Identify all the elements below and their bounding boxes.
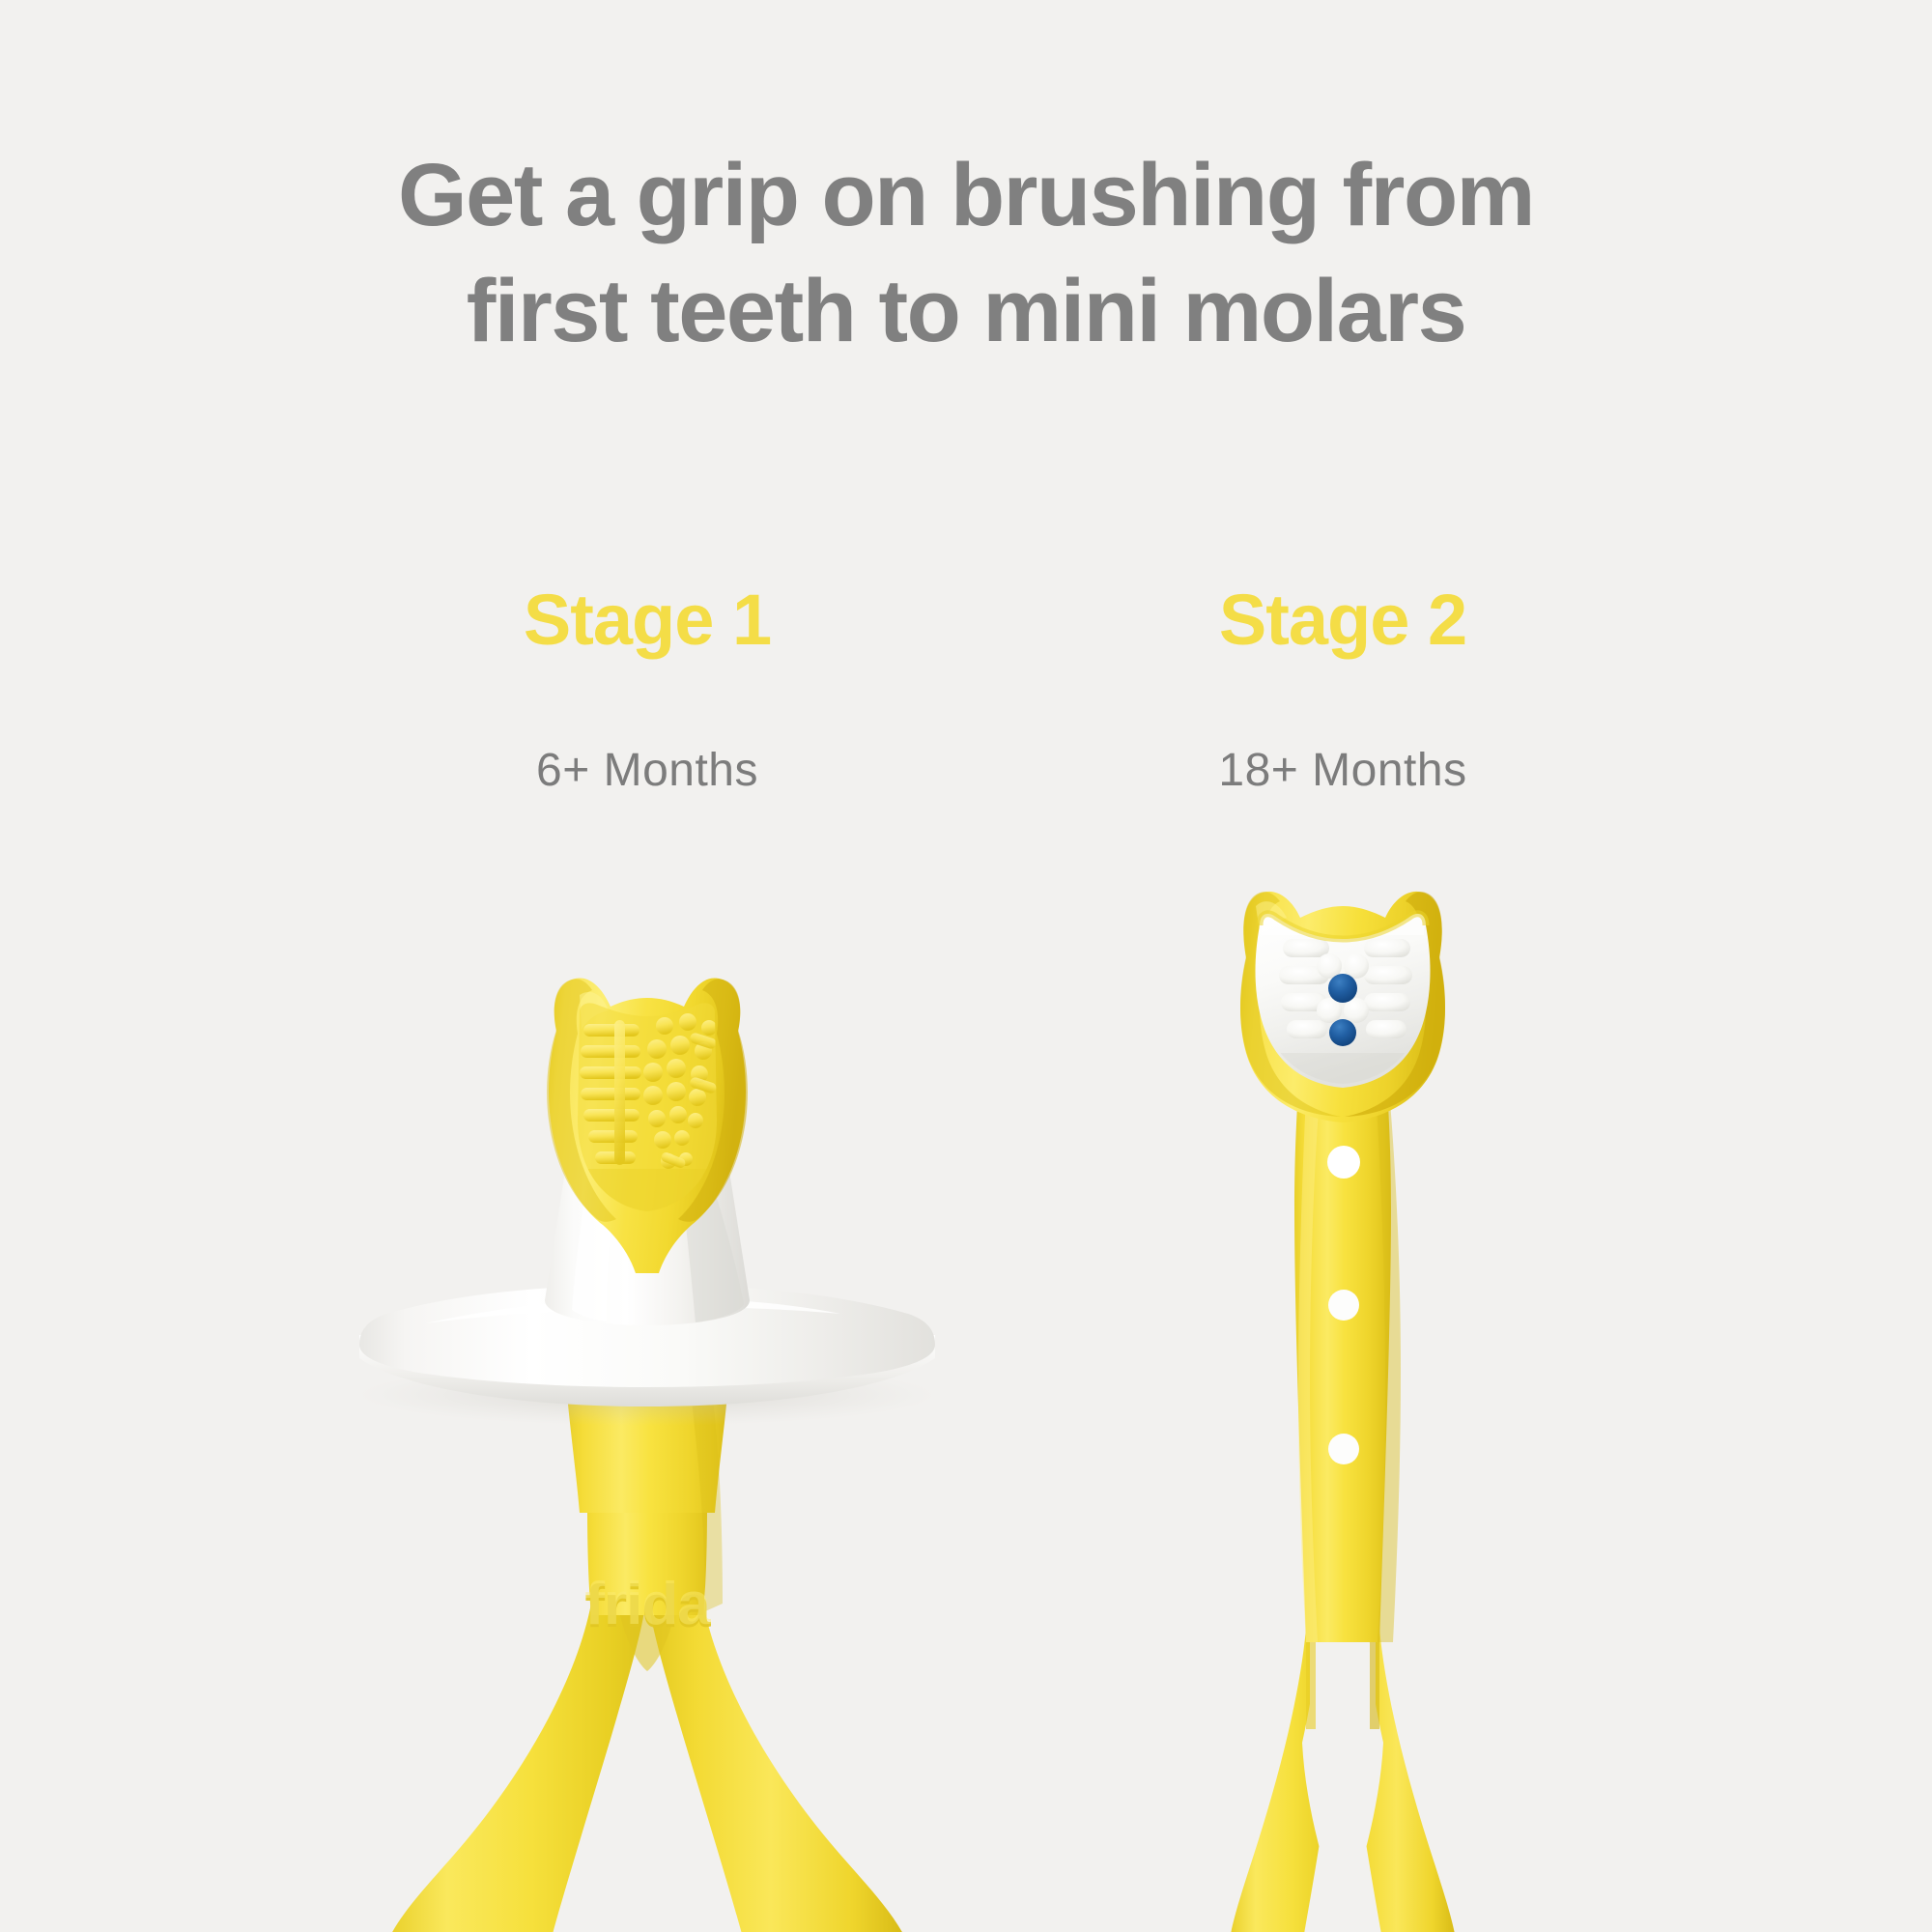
shield-collar	[545, 1136, 750, 1325]
stage-1-neck	[599, 1124, 696, 1179]
page-title-line-2: first teeth to mini molars	[0, 253, 1932, 369]
stage-2-leg-left	[1231, 1629, 1343, 1932]
stage-2-notch-rim-left	[1306, 1609, 1335, 1729]
stage-2-label: Stage 2	[1043, 580, 1642, 661]
grip-dot-2	[1328, 1290, 1359, 1321]
stage-1-shield-shadow	[357, 1364, 937, 1426]
stage-2-brush-head	[1240, 892, 1445, 1122]
shield-disc-highlight	[425, 1298, 840, 1323]
stage-2-handle-shade-right	[1376, 1090, 1401, 1642]
stage-1-head-stem	[593, 1078, 701, 1130]
stage-2-head-frame	[1240, 892, 1445, 1122]
shield-disc	[359, 1285, 935, 1387]
stage-2-handle-taper-right	[1383, 1082, 1410, 1642]
stage-1-leg-crotch-shade	[618, 1607, 676, 1671]
stage-1-label: Stage 1	[348, 580, 947, 661]
brand-emboss-text: frida	[584, 1574, 711, 1640]
shield-collar-shade	[676, 1148, 744, 1322]
stage-2-product-image	[1231, 892, 1455, 1932]
page-title: Get a grip on brushing from first teeth …	[0, 137, 1932, 369]
stage-2-age-range: 18+ Months	[1043, 744, 1642, 798]
page-title-line-1: Get a grip on brushing from	[0, 137, 1932, 253]
stage-2-bristle-field	[1256, 914, 1431, 1088]
stage-1-safety-shield	[359, 1136, 935, 1406]
stage-2-head-rim-left	[1240, 892, 1341, 1117]
stage-1-handle-legs	[391, 1604, 903, 1932]
stage-2-handle	[1294, 1088, 1391, 1642]
stage-1-leg-right	[649, 1604, 903, 1932]
bristle-bars-left	[1279, 939, 1329, 1038]
stage-1-leg-left	[391, 1604, 645, 1932]
shield-disc-lip	[359, 1335, 935, 1406]
nub-dots	[643, 1013, 717, 1169]
shield-collar-highlight	[572, 1151, 620, 1321]
brand-emboss-highlight: frida	[584, 1571, 711, 1637]
stage-2-head-highlight	[1256, 901, 1287, 945]
stage-1-teether-head	[547, 978, 748, 1273]
stage-2-leg-crotch-arc	[1310, 1609, 1376, 1719]
nub-ridges	[580, 1024, 641, 1164]
stage-1-head-rim-left	[547, 979, 616, 1221]
indicator-bristle-tuft-2	[1329, 1019, 1356, 1046]
nub-dashes	[660, 1032, 718, 1170]
grip-dot-3	[1328, 1434, 1359, 1464]
stage-1-head-rim-right	[678, 979, 748, 1221]
nub-connectors	[614, 1020, 625, 1165]
stage-1-handle-shadow	[690, 1383, 723, 1611]
bristle-bars-right	[1364, 939, 1412, 1038]
stage-1-handle-upper-flare	[566, 1381, 728, 1513]
stage-2-leg-crotch	[1302, 1623, 1383, 1929]
stage-2-handle-legs	[1231, 1609, 1455, 1932]
stage-2-bristle-inner-rim	[1260, 914, 1426, 939]
stage-1-age-range: 6+ Months	[348, 744, 947, 798]
stage-2-handle-taper-left	[1275, 1082, 1302, 1642]
grip-dot-1	[1327, 1146, 1360, 1179]
stage-1-nub-field	[570, 995, 724, 1236]
shield-collar-bore	[593, 1152, 701, 1178]
stage-2-head-rim-right	[1345, 892, 1445, 1117]
stage-1-product-image: frida frida	[357, 978, 937, 1932]
bristle-tufts-center	[1317, 953, 1369, 1043]
shield-collar-top	[566, 1142, 728, 1184]
stage-1-neck-in-collar	[601, 1121, 694, 1167]
stage-2-notch-rim-right	[1350, 1609, 1379, 1729]
stage-2-head-neck	[1270, 1005, 1415, 1094]
stage-1-head-body	[549, 978, 746, 1273]
stage-2-grip-dots	[1327, 1146, 1360, 1464]
stage-1-handle	[580, 1397, 715, 1615]
indicator-bristle-tuft-1	[1328, 974, 1357, 1003]
stage-2-bristle-tufts	[1256, 908, 1432, 1101]
stage-2-handle-highlight-left	[1298, 1095, 1320, 1642]
stage-1-brand-emboss: frida frida	[584, 1571, 711, 1640]
stage-1-head-highlight	[580, 992, 609, 1030]
stage-2-leg-right	[1343, 1629, 1455, 1932]
